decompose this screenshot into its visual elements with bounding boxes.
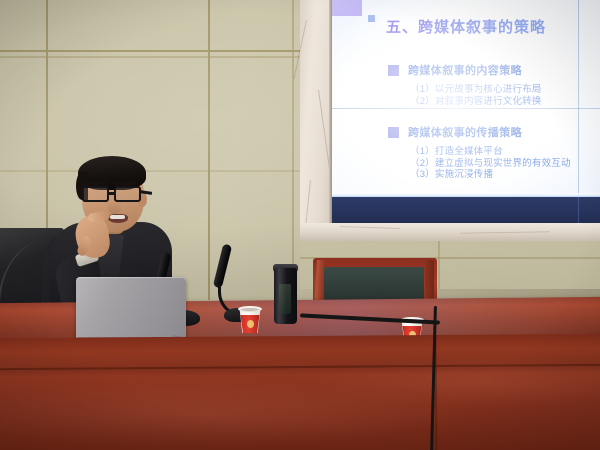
cup-emblem: [247, 320, 254, 328]
list-item: （3）实施沉浸传播: [410, 169, 598, 181]
slide-decoration-rectangle: [332, 0, 362, 16]
cup-interior: [241, 308, 259, 312]
slide-section-2: 跨媒体叙事的传播策略 （1）打造全媒体平台 （2）建立虚拟与现实世界的有效互动 …: [388, 124, 598, 181]
screen-bottom-band: [332, 197, 600, 225]
list-item: （1）以元故事为核心进行布局: [410, 84, 598, 96]
powerpoint-slide: 五、跨媒体叙事的策略 跨媒体叙事的内容策略 （1）以元故事为核心进行布局 （2）…: [332, 0, 600, 222]
slide-frame-line-right: [578, 0, 579, 197]
glasses-temple-arm: [140, 190, 152, 194]
macbook-laptop[interactable]: Pro: [76, 277, 186, 343]
paper-cup-left[interactable]: [238, 305, 262, 333]
slide-divider-line: [332, 108, 600, 109]
eyeglasses: [78, 186, 148, 203]
glasses-lens-right: [114, 186, 141, 202]
slide-section-1-heading-text: 跨媒体叙事的内容策略: [408, 62, 522, 78]
list-item: （2）建立虚拟与现实世界的有效互动: [410, 158, 598, 170]
wall-grout-line: [438, 241, 440, 289]
apple-logo-icon: [122, 301, 139, 321]
slide-section-1: 跨媒体叙事的内容策略 （1）以元故事为核心进行布局 （2）对叙事内容进行文化转换: [388, 62, 598, 107]
slide-section-2-items: （1）打造全媒体平台 （2）建立虚拟与现实世界的有效互动 （3）实施沉浸传播: [388, 146, 598, 181]
nose: [108, 202, 121, 214]
marble-vein: [340, 226, 400, 229]
glasses-bridge: [109, 192, 115, 195]
thermos-view-window: [279, 284, 291, 314]
eyebrow-left: [84, 182, 106, 185]
projection-screen: 五、跨媒体叙事的策略 跨媒体叙事的内容策略 （1）以元故事为核心进行布局 （2）…: [332, 0, 600, 222]
wood-grain: [0, 334, 600, 450]
bullet-square-icon: [388, 65, 399, 76]
glasses-lens-left: [82, 186, 109, 202]
marble-vein: [460, 231, 550, 234]
slide-section-2-heading: 跨媒体叙事的传播策略: [388, 124, 598, 140]
bullet-square-icon: [388, 127, 399, 138]
marble-ledge: [300, 223, 600, 241]
list-item: （2）对叙事内容进行文化转换: [410, 96, 598, 108]
slide-title: 五、跨媒体叙事的策略: [332, 16, 600, 37]
podium-front-panel: [0, 334, 600, 450]
eyebrow-right: [114, 182, 136, 185]
slide-section-2-heading-text: 跨媒体叙事的传播策略: [408, 124, 522, 140]
slide-section-1-items: （1）以元故事为核心进行布局 （2）对叙事内容进行文化转换: [388, 84, 598, 107]
teeth: [110, 215, 125, 219]
lecture-hall-photo: 五、跨媒体叙事的策略 跨媒体叙事的内容策略 （1）以元故事为核心进行布局 （2）…: [0, 0, 600, 450]
microphone-capsule: [213, 244, 232, 289]
slide-section-1-heading: 跨媒体叙事的内容策略: [388, 62, 598, 78]
list-item: （1）打造全媒体平台: [410, 146, 598, 158]
